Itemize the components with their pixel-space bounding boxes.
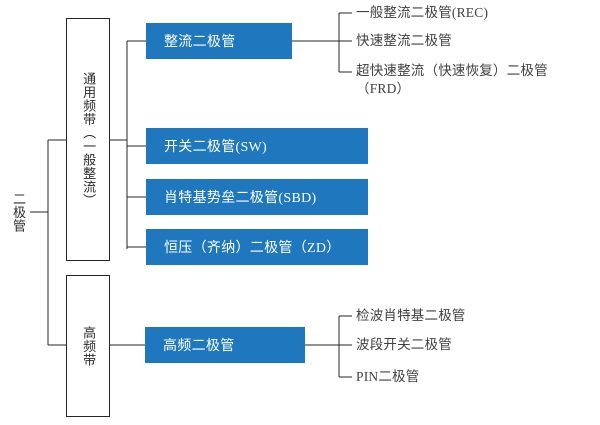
leaf-general-rectifier-diode: 一般整流二极管(REC) bbox=[356, 5, 488, 22]
node-zener-diode[interactable]: 恒压（齐纳）二极管（ZD） bbox=[146, 229, 368, 265]
node-switching-diode[interactable]: 开关二极管(SW) bbox=[146, 128, 368, 164]
group-box-high-frequency-band[interactable]: 高频带 bbox=[66, 275, 110, 417]
group-box-general-band[interactable]: 通用频带（一般整流） bbox=[66, 18, 110, 261]
node-high-frequency-diode[interactable]: 高频二极管 bbox=[145, 327, 305, 363]
leaf-detector-schottky-diode: 检波肖特基二极管 bbox=[356, 308, 466, 325]
root-label: 二极管 bbox=[6, 182, 30, 242]
leaf-fast-rectifier-diode: 快速整流二极管 bbox=[356, 33, 452, 50]
node-schottky-barrier-diode[interactable]: 肖特基势垒二极管(SBD) bbox=[146, 179, 368, 215]
leaf-ultrafast-recovery-diode: 超快速整流（快速恢复）二极管 bbox=[356, 63, 548, 80]
node-rectifier-diode[interactable]: 整流二极管 bbox=[146, 23, 292, 59]
leaf-band-switching-diode: 波段开关二极管 bbox=[356, 337, 452, 354]
leaf-pin-diode: PIN二极管 bbox=[356, 369, 419, 386]
diode-classification-diagram: 二极管 通用频带（一般整流） 高频带 整流二极管 开关二极管(SW) 肖特基势垒… bbox=[0, 0, 600, 425]
group-box-high-frequency-band-label: 高频带 bbox=[81, 326, 95, 367]
group-box-general-band-label: 通用频带（一般整流） bbox=[81, 72, 95, 207]
leaf-ultrafast-recovery-diode-cont: （FRD） bbox=[356, 81, 410, 98]
